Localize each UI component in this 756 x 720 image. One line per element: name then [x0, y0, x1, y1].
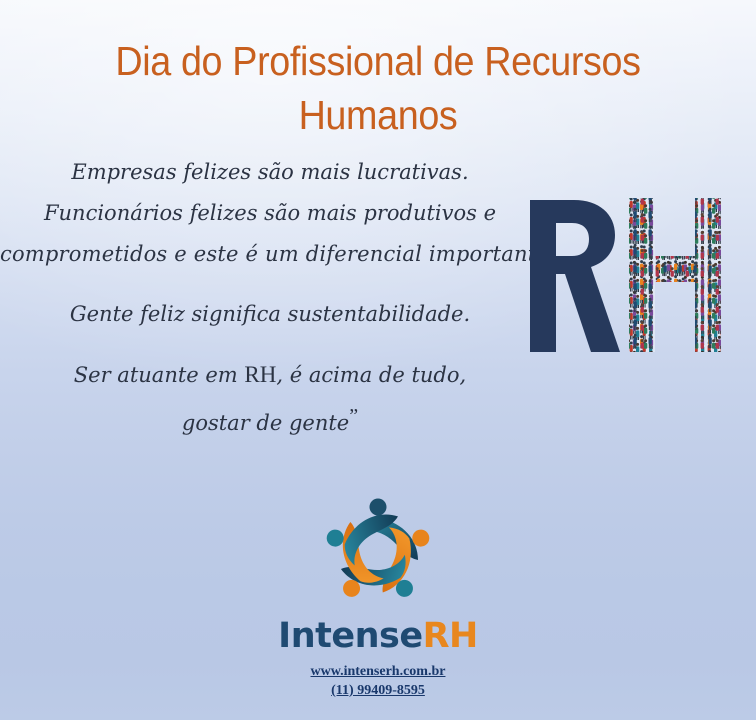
poster-canvas: Dia do Profissional de Recursos Humanos … [0, 0, 756, 720]
quote-line-5-rh: RH [244, 362, 276, 387]
quote-line-6-text: gostar de gente [182, 411, 349, 435]
quote-line-4: Gente feliz significa sustentabilidade. [0, 294, 540, 335]
letter-h-crowd [624, 196, 750, 356]
intenserh-swirl-logo-icon [303, 484, 453, 620]
closing-quote-mark: ” [349, 405, 358, 427]
logo-wordmark: IntenseRH [0, 616, 756, 656]
page-title: Dia do Profissional de Recursos Humanos [30, 34, 726, 142]
phone-number[interactable]: (11) 99409-8595 [0, 681, 756, 700]
letter-r-shape [530, 200, 620, 352]
quote-line-5: Ser atuante em RH, é acima de tudo, [0, 354, 540, 396]
logo-wordmark-intense: Intense [278, 616, 422, 656]
quote-line-5-pre: Ser atuante em [74, 363, 245, 387]
quote-spacer-2 [0, 335, 540, 354]
website-link[interactable]: www.intenserh.com.br [0, 662, 756, 681]
quote-spacer-1 [0, 275, 540, 294]
rh-artwork [524, 196, 750, 356]
quote-line-2: Funcionários felizes são mais produtivos… [0, 193, 540, 234]
quote-line-5-post: , é acima de tudo, [276, 363, 466, 387]
contact-info: www.intenserh.com.br (11) 99409-8595 [0, 662, 756, 700]
quote-block: Empresas felizes são mais lucrativas. Fu… [0, 152, 540, 444]
logo-block: IntenseRH www.intenserh.com.br (11) 9940… [0, 484, 756, 700]
quote-line-1: Empresas felizes são mais lucrativas. [0, 152, 540, 193]
swirl-petals [314, 497, 441, 618]
website-link-text: www.intenserh.com.br [311, 664, 446, 679]
quote-line-6: gostar de gente” [0, 396, 540, 444]
quote-line-3: comprometidos e este é um diferencial im… [0, 234, 540, 275]
phone-number-text: (11) 99409-8595 [331, 683, 425, 698]
logo-wordmark-rh: RH [423, 616, 478, 656]
